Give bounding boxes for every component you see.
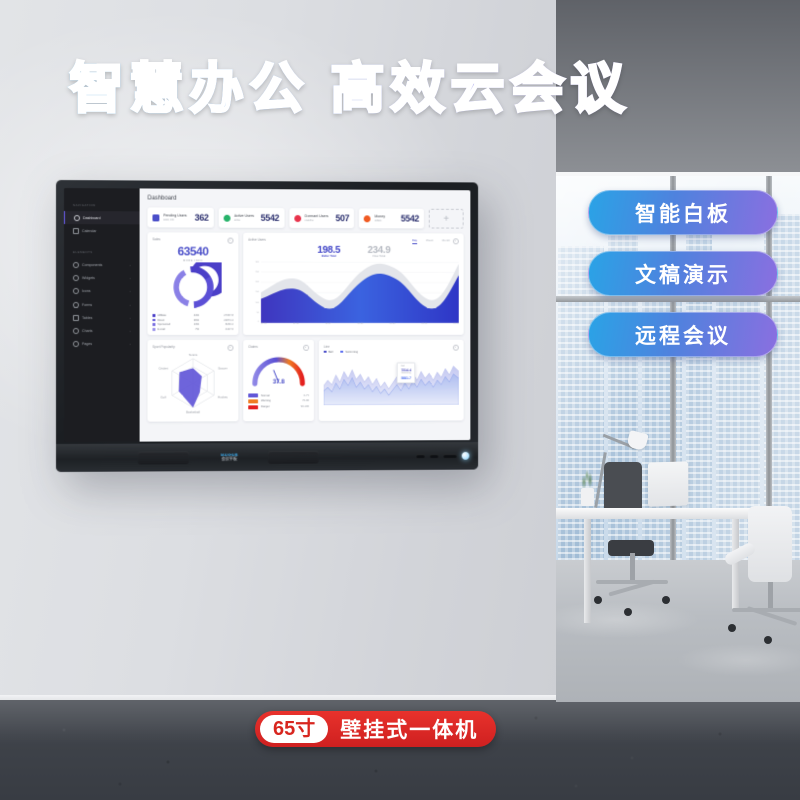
- office-chair-backrest: [604, 462, 642, 514]
- legend-amount: 8260.2: [199, 323, 233, 326]
- y-tick: 150: [255, 292, 259, 294]
- radar-axis-label: Tennis: [189, 353, 198, 357]
- sidebar-item-charts[interactable]: Charts ›: [64, 324, 140, 337]
- legend-row: Sponsored 13% 8260.2: [152, 323, 233, 326]
- donut-legend: Affiliate 44% 27957.8 Direct 36% 22874.4: [152, 314, 233, 332]
- legend-swatch: [248, 405, 258, 409]
- desk-leg: [584, 519, 591, 623]
- add-card-button[interactable]: +: [429, 209, 464, 229]
- laptop: [648, 461, 688, 506]
- gear-icon[interactable]: [453, 238, 459, 244]
- potted-plant: [580, 470, 595, 490]
- home-icon: [74, 215, 80, 221]
- plant-pot: [581, 488, 594, 506]
- speaker-grille-left: [138, 451, 189, 464]
- area-plot: 300 250 200 150 100 50 0: [248, 260, 459, 330]
- chair-caster: [728, 624, 736, 632]
- sidebar-item-icons[interactable]: Icons ›: [64, 285, 140, 298]
- sidebar-heading-elements: ELEMENTS: [64, 244, 140, 258]
- sidebar-item-calendar[interactable]: Calendar: [64, 224, 140, 237]
- sidebar-item-tables[interactable]: Tables ›: [64, 311, 140, 324]
- y-tick: 250: [255, 271, 259, 273]
- sidebar-item-label: Pages: [82, 342, 92, 346]
- banner-text: 壁挂式一体机: [340, 714, 478, 744]
- stat-sublabel: await, info: [163, 218, 190, 221]
- feature-pill-whiteboard[interactable]: 智能白板: [588, 190, 778, 235]
- chevron-right-icon: ›: [130, 342, 131, 346]
- area-kpi-row: 198.5 Butter Total 234.9 Flow Total: [248, 245, 459, 258]
- square-icon: [152, 214, 159, 221]
- stat-value: 507: [336, 213, 350, 223]
- donut-headline-value: 63540: [152, 244, 233, 258]
- radar-axis-label: Basketball: [186, 410, 200, 414]
- chair-base: [596, 580, 668, 584]
- legend-row: Affiliate 44% 27957.8: [152, 314, 233, 317]
- calendar-icon: [73, 228, 79, 234]
- legend-label: Swimming: [345, 350, 358, 354]
- x-tick: 01-08: [358, 323, 363, 330]
- x-tick: 01-06: [293, 323, 298, 330]
- x-axis: 01-05 01-06 01-07 01-08 01-09 01-10 01-1…: [261, 323, 459, 330]
- charts-icon: [73, 328, 79, 334]
- x-tick: 01-07: [325, 323, 330, 330]
- legend-label: Danger: [261, 405, 270, 408]
- chair-caster: [594, 596, 602, 604]
- y-tick: 200: [255, 282, 259, 284]
- sidebar-heading-navigation: NAVIGATION: [64, 197, 140, 211]
- line-chart-card: Line Ball Swimming: [319, 340, 464, 421]
- brand-logo-sub: 会议平板: [221, 457, 238, 461]
- tooltip-value: 5881.7: [401, 376, 411, 380]
- stat-card-money[interactable]: Money dollars 5542: [359, 208, 424, 228]
- feature-pill-remote-meeting[interactable]: 远程会议: [588, 312, 778, 357]
- radar-axis-label: Soccer: [218, 366, 227, 370]
- power-led-indicator[interactable]: [462, 452, 470, 460]
- x-tick: 01-05: [261, 323, 267, 330]
- legend-row: Direct 36% 22874.4: [152, 319, 233, 322]
- usb-port[interactable]: [416, 454, 425, 458]
- chair-caster: [764, 636, 772, 644]
- tables-icon: [73, 315, 79, 321]
- kpi-flow-total: 234.9 Flow Total: [368, 245, 391, 258]
- radar-axis-label: Hockey: [218, 395, 228, 399]
- legend-percent: 44%: [183, 314, 199, 317]
- radar-axis-label: Golf: [161, 395, 167, 399]
- legend-label: Affiliate: [158, 314, 184, 317]
- x-tick: 01-10: [422, 323, 427, 330]
- brand-logo: MAXHUB 会议平板: [221, 453, 238, 461]
- icons-icon: [73, 288, 79, 294]
- active-users-area-card: Active Users Day Week Month 198.5: [243, 233, 463, 335]
- legend-label: E-mail: [158, 328, 184, 331]
- chevron-right-icon: ›: [130, 276, 131, 280]
- chevron-right-icon: ›: [130, 329, 131, 333]
- stat-card-pending-users[interactable]: Pending Users await, info 362: [148, 207, 214, 227]
- x-tick: 01-11: [453, 323, 458, 330]
- legend-label: Ball: [328, 350, 333, 354]
- sidebar-item-label: Tables: [82, 316, 92, 320]
- legend-swatch: [152, 314, 155, 317]
- tab-day[interactable]: Day: [412, 238, 417, 244]
- tv-bottom-bezel: MAXHUB 会议平板: [56, 442, 478, 472]
- card-title: Active Users: [248, 238, 266, 242]
- gear-icon[interactable]: [453, 345, 459, 351]
- sidebar-item-label: Calendar: [82, 229, 97, 233]
- y-tick: 300: [255, 261, 259, 263]
- widgets-icon: [73, 275, 79, 281]
- feature-pill-list: 智能白板 文稿演示 远程会议: [588, 190, 778, 373]
- chevron-right-icon: ›: [130, 263, 131, 267]
- sidebar-item-label: Charts: [82, 329, 93, 333]
- y-tick: 50: [257, 312, 259, 314]
- stat-sublabel: active: [234, 218, 257, 221]
- sidebar-item-components[interactable]: Components ›: [64, 258, 140, 271]
- gauge-legend: Normal 0-70 Warning 70-90 Danger: [248, 393, 309, 409]
- dashboard-middle-row: Sales 63540 MORE INFO: [148, 232, 464, 335]
- claims-gauge-card: Claims 37.8: [243, 340, 314, 421]
- sidebar-item-label: Dashboard: [83, 216, 101, 220]
- stat-value: 362: [195, 213, 209, 223]
- size-banner: 65寸 壁挂式一体机: [255, 711, 496, 747]
- legend-swatch: [248, 393, 258, 397]
- legend-row: Warning 70-90: [248, 399, 309, 403]
- port-cluster: [416, 452, 478, 460]
- donut-svg: [164, 262, 221, 312]
- feature-pill-presentation[interactable]: 文稿演示: [588, 251, 778, 296]
- legend-swatch: [324, 350, 327, 353]
- size-badge: 65寸: [260, 715, 328, 743]
- legend-swatch: [341, 350, 344, 353]
- line-legend: Ball Swimming: [324, 350, 459, 354]
- dashboard-sidebar[interactable]: NAVIGATION Dashboard Calendar ELEMENTS C…: [64, 188, 140, 442]
- white-chair-backrest: [748, 506, 792, 582]
- leaf-icon: [223, 214, 230, 221]
- x-tick: 01-09: [390, 323, 395, 330]
- gear-icon[interactable]: [228, 238, 234, 244]
- tab-month[interactable]: Month: [442, 238, 450, 244]
- stat-sublabel: undefine: [305, 219, 332, 222]
- interactive-flat-panel: NAVIGATION Dashboard Calendar ELEMENTS C…: [56, 180, 478, 472]
- legend-row: Danger 90-100: [248, 405, 309, 409]
- chevron-right-icon: ›: [130, 316, 131, 320]
- legend-row: E-mail 7% 4447.6: [152, 328, 233, 331]
- range-tabs[interactable]: Day Week Month: [412, 238, 450, 244]
- components-icon: [73, 262, 79, 268]
- radar-series: [179, 368, 202, 407]
- legend-range: 0-70: [304, 394, 309, 397]
- stat-card-dormant-users[interactable]: Dormant Users undefine 507: [289, 208, 354, 228]
- y-tick: 100: [255, 302, 259, 304]
- chevron-right-icon: ›: [130, 289, 131, 293]
- card-title: Line: [324, 345, 459, 349]
- card-title: Sales: [152, 237, 233, 241]
- y-axis: 300 250 200 150 100 50 0: [248, 260, 260, 323]
- y-tick: 0: [258, 321, 259, 323]
- hdmi-port[interactable]: [443, 454, 457, 458]
- sidebar-item-widgets[interactable]: Widgets ›: [64, 272, 140, 285]
- legend-label: Sponsored: [158, 323, 184, 326]
- stat-value: 5542: [261, 213, 279, 223]
- sales-donut-card: Sales 63540 MORE INFO: [148, 232, 239, 335]
- legend-range: 70-90: [302, 400, 309, 403]
- legend-percent: 13%: [183, 323, 199, 326]
- sidebar-item-label: Icons: [82, 289, 91, 293]
- stat-card-active-users[interactable]: Active Users active 5542: [218, 208, 284, 228]
- poster-canvas: 智慧办公 高效云会议 智能白板 文稿演示 远程会议 NAVIGATION Das…: [0, 0, 800, 800]
- radar-chart-svg: Tennis Soccer Hockey Basketball Golf Cri…: [152, 349, 233, 415]
- legend-swatch: [152, 323, 155, 326]
- radar-axis-label: Cricket: [159, 367, 168, 371]
- forms-icon: [73, 302, 79, 308]
- chevron-right-icon: ›: [130, 303, 131, 307]
- sidebar-item-dashboard[interactable]: Dashboard: [64, 211, 140, 224]
- legend-swatch: [152, 319, 155, 322]
- sidebar-item-label: Widgets: [82, 276, 95, 280]
- sport-popularity-card: Sport Popularity Tennis: [148, 340, 239, 422]
- chair-caster: [662, 596, 670, 604]
- card-title: Claims: [248, 345, 309, 349]
- sidebar-item-pages[interactable]: Pages ›: [64, 337, 140, 350]
- legend-label: Direct: [158, 319, 184, 322]
- chair-post: [768, 582, 773, 610]
- chair-caster: [624, 608, 632, 616]
- kpi-butter-total: 198.5 Butter Total: [317, 245, 340, 258]
- legend-range: 90-100: [301, 405, 309, 408]
- legend-swatch: [248, 399, 258, 403]
- chart-tooltip: Ball 7314.4 Swimming 5881.7: [397, 362, 415, 383]
- gauge-svg: 37.8: [248, 350, 309, 388]
- stat-sublabel: dollars: [375, 219, 397, 222]
- sidebar-item-forms[interactable]: Forms ›: [64, 298, 140, 311]
- page-title: Dashboard: [148, 195, 464, 203]
- pages-icon: [73, 341, 79, 347]
- coin-icon: [364, 215, 371, 222]
- gear-icon[interactable]: [303, 345, 309, 351]
- legend-item-ball: Ball: [324, 350, 333, 354]
- dashboard-content: Dashboard Pending Users await, info 362: [140, 188, 471, 441]
- gauge-value: 37.8: [273, 379, 285, 386]
- line-chart-svg: [324, 356, 459, 406]
- tab-week[interactable]: Week: [426, 238, 433, 244]
- desk-leg: [732, 519, 739, 611]
- dashboard-bottom-row: Sport Popularity Tennis: [148, 340, 464, 422]
- tv-screen[interactable]: NAVIGATION Dashboard Calendar ELEMENTS C…: [64, 188, 470, 442]
- heart-icon: [294, 215, 301, 222]
- legend-row: Normal 0-70: [248, 393, 309, 397]
- legend-swatch: [152, 328, 155, 331]
- speaker-grille-right: [267, 450, 318, 463]
- legend-amount: 22874.4: [199, 319, 233, 322]
- chair-post: [630, 553, 635, 583]
- legend-item-swimming: Swimming: [341, 350, 358, 354]
- desk-surface: [556, 508, 754, 519]
- area-chart-svg: [261, 260, 459, 323]
- legend-percent: 7%: [183, 328, 199, 331]
- poster-headline: 智慧办公 高效云会议: [0, 62, 700, 116]
- legend-label: Warning: [261, 400, 271, 403]
- stat-value: 5542: [401, 214, 419, 224]
- legend-amount: 27957.8: [199, 314, 233, 317]
- sidebar-item-label: Components: [82, 263, 102, 267]
- legend-percent: 36%: [183, 319, 199, 322]
- sidebar-item-label: Forms: [82, 303, 92, 307]
- gear-icon[interactable]: [228, 345, 234, 351]
- stat-card-row: Pending Users await, info 362 Active Use…: [148, 207, 464, 228]
- usb-port[interactable]: [430, 454, 439, 458]
- legend-label: Normal: [261, 394, 270, 397]
- legend-amount: 4447.6: [199, 328, 233, 331]
- donut-plot: [152, 262, 233, 312]
